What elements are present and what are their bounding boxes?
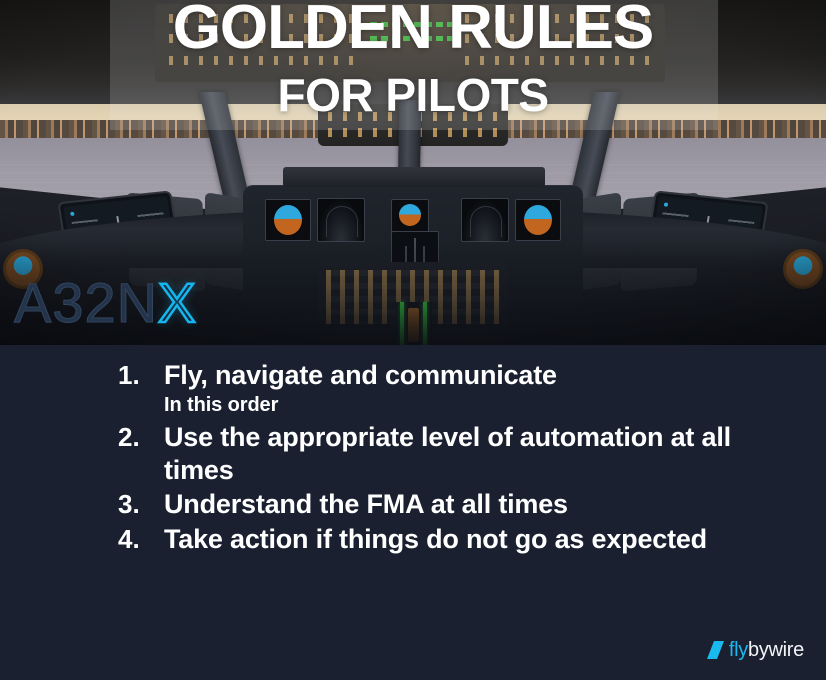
attitude-indicator-icon: [524, 205, 552, 235]
list-item: 3. Understand the FMA at all times: [118, 488, 778, 520]
rule-number: 3.: [118, 488, 164, 520]
flybywire-name-secondary: bywire: [748, 639, 804, 661]
ecam-upper-display: [391, 199, 429, 235]
coffee-cup-right: [786, 252, 820, 286]
rule-body: Take action if things do not go as expec…: [164, 523, 778, 555]
rule-number: 2.: [118, 421, 164, 453]
rules-list: 1. Fly, navigate and communicate In this…: [118, 359, 778, 557]
cockpit-photo: GOLDEN RULES FOR PILOTS A32NX: [0, 0, 826, 345]
rule-number: 4.: [118, 523, 164, 555]
rule-text: Fly, navigate and communicate: [164, 359, 778, 391]
list-item: 1. Fly, navigate and communicate In this…: [118, 359, 778, 419]
thrust-lever-right: [423, 302, 427, 345]
a32nx-wordmark-accent: X: [158, 271, 196, 334]
thrust-levers: [396, 302, 432, 345]
thrust-lever-left: [400, 302, 404, 345]
thrust-lever-detent: [408, 308, 419, 342]
nd-first-officer: [461, 198, 509, 242]
center-pedestal: [318, 262, 508, 345]
rule-text: Use the appropriate level of automation …: [164, 421, 778, 486]
attitude-indicator-icon: [399, 204, 421, 226]
rule-number: 1.: [118, 359, 164, 391]
fcu-panel: [283, 167, 545, 187]
rule-text: Take action if things do not go as expec…: [164, 523, 778, 555]
rules-section: 1. Fly, navigate and communicate In this…: [0, 345, 826, 680]
golden-rules-poster: GOLDEN RULES FOR PILOTS A32NX 1. Fly, na…: [0, 0, 826, 680]
flybywire-wordmark: flybywire: [729, 640, 804, 660]
rule-note: In this order: [164, 392, 778, 419]
attitude-indicator-icon: [274, 205, 302, 235]
rule-text: Understand the FMA at all times: [164, 488, 778, 520]
list-item: 2. Use the appropriate level of automati…: [118, 421, 778, 486]
page-title: GOLDEN RULES: [0, 0, 826, 59]
nd-captain: [317, 198, 365, 242]
pfd-captain: [265, 199, 311, 241]
flybywire-logo: flybywire: [707, 640, 804, 660]
a32nx-wordmark: A32NX: [14, 275, 196, 331]
pfd-first-officer: [515, 199, 561, 241]
rule-body: Use the appropriate level of automation …: [164, 421, 778, 486]
efb-status-dot-icon: [70, 212, 75, 216]
a32nx-wordmark-base: A32N: [14, 271, 158, 334]
flybywire-name-primary: fly: [729, 639, 748, 661]
page-subtitle: FOR PILOTS: [0, 68, 826, 122]
rule-body: Understand the FMA at all times: [164, 488, 778, 520]
list-item: 4. Take action if things do not go as ex…: [118, 523, 778, 555]
flybywire-winglet-icon: [707, 641, 724, 659]
rule-body: Fly, navigate and communicate In this or…: [164, 359, 778, 419]
efb-status-dot-icon: [664, 202, 669, 206]
